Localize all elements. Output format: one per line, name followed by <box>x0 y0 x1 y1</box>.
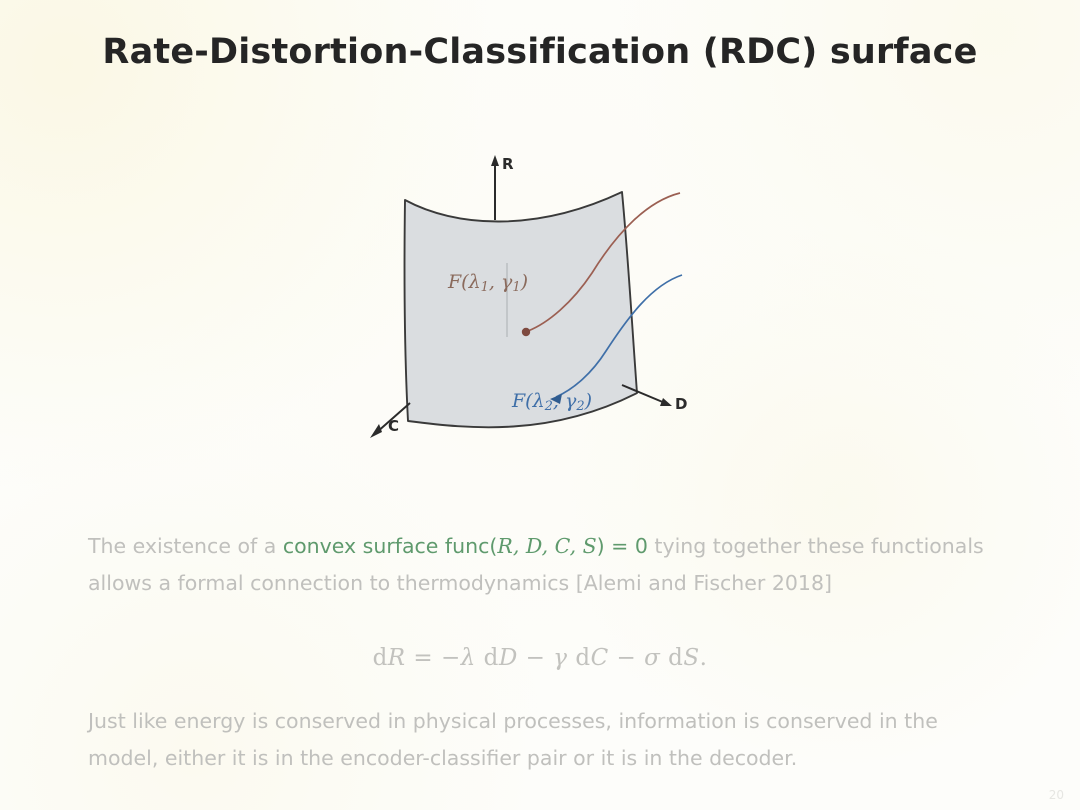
surface-label-f1: F(λ1, γ1) <box>448 271 528 295</box>
body-paragraph-one: The existence of a convex surface func(R… <box>88 528 988 602</box>
slide-canvas: Rate-Distortion-Classification (RDC) sur… <box>0 0 1080 810</box>
axis-label-classification: C <box>388 417 399 435</box>
page-number: 20 <box>1049 788 1064 802</box>
p1-lead-text: The existence of a <box>88 534 283 558</box>
f1-suffix: ) <box>521 271 528 293</box>
axis-label-distortion: D <box>675 395 687 413</box>
f1-subscript-2: 1 <box>512 280 520 295</box>
eq-dS-d: d <box>660 645 683 671</box>
paragraph-existence: The existence of a convex surface func(R… <box>88 528 988 602</box>
thermodynamics-equation: dR = −λ dD − γ dC − σ dS. <box>0 645 1080 671</box>
eq-period: . <box>700 645 708 671</box>
eq-dD-d: d <box>476 645 499 671</box>
eq-d-lhs: d <box>373 645 388 671</box>
eq-dC-var: C <box>591 645 609 671</box>
leader-arrowhead-f1 <box>522 328 530 336</box>
page-title: Rate-Distortion-Classification (RDC) sur… <box>0 32 1080 72</box>
axis-arrow-rate <box>491 155 499 166</box>
paragraph-conservation: Just like energy is conserved in physica… <box>88 703 988 777</box>
f1-mid: , γ <box>489 271 512 293</box>
axis-label-rate: R <box>502 155 514 173</box>
p1-highlight-variables: R, D, C, S <box>497 534 596 558</box>
body-paragraph-two: Just like energy is conserved in physica… <box>88 703 988 777</box>
f2-prefix: F(λ <box>512 390 545 412</box>
eq-minus-1: − <box>518 645 553 671</box>
eq-lambda: λ <box>461 645 476 671</box>
eq-minus-2: − <box>609 645 644 671</box>
eq-dC-d: d <box>568 645 591 671</box>
eq-dD-var: D <box>499 645 518 671</box>
p1-highlight-close: ) = 0 <box>597 534 648 558</box>
axis-arrow-classification <box>370 424 382 438</box>
f1-subscript-1: 1 <box>481 280 489 295</box>
f2-mid: , γ <box>553 390 576 412</box>
f2-subscript-1: 2 <box>545 399 553 414</box>
eq-equals-minus: = − <box>406 645 461 671</box>
f2-suffix: ) <box>585 390 592 412</box>
eq-sigma: σ <box>644 645 660 671</box>
eq-gamma: γ <box>553 645 567 671</box>
surface-label-f2: F(λ2, γ2) <box>512 390 592 414</box>
p1-highlight-open: convex surface func( <box>283 534 498 558</box>
f1-prefix: F(λ <box>448 271 481 293</box>
rdc-surface-diagram <box>360 145 720 465</box>
f2-subscript-2: 2 <box>576 399 584 414</box>
rdc-surface-figure: F(λ1, γ1) F(λ2, γ2) R C D <box>360 145 720 465</box>
eq-r-lhs: R <box>388 645 406 671</box>
axis-arrow-distortion <box>660 398 672 406</box>
eq-dS-var: S <box>683 645 699 671</box>
